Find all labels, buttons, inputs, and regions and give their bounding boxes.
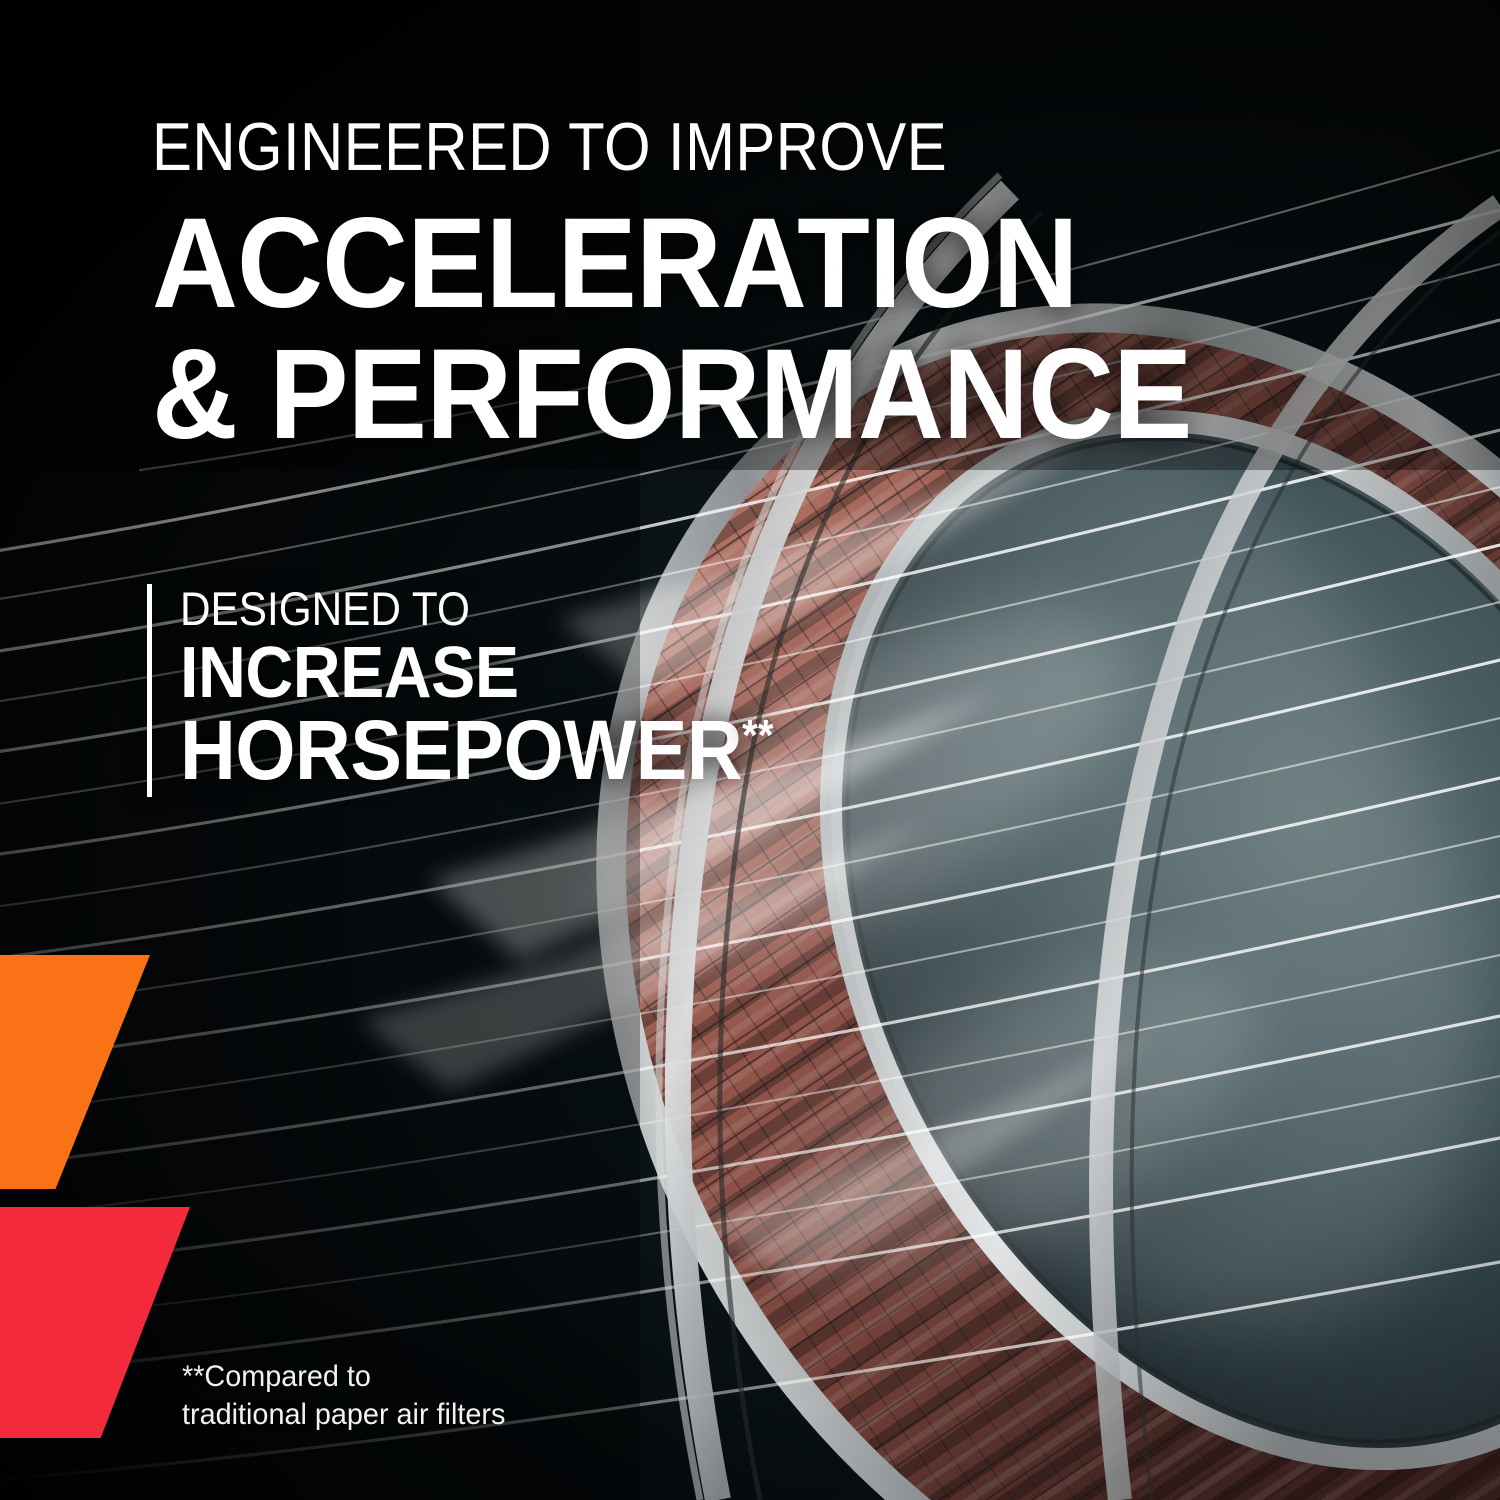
product-banner: ENGINEERED TO IMPROVE ACCELERATION & PER… xyxy=(0,0,1500,1500)
subhead-line-1: INCREASE xyxy=(180,640,519,706)
headline-eyebrow: ENGINEERED TO IMPROVE xyxy=(152,113,947,181)
subhead-footnote-marker: ** xyxy=(742,711,773,760)
subhead-vertical-rule xyxy=(147,584,152,797)
headline-line-1: ACCELERATION xyxy=(152,205,1078,323)
footnote-text: **Compared to traditional paper air filt… xyxy=(182,1358,505,1434)
subhead-line-2: HORSEPOWER** xyxy=(180,712,773,789)
headline-line-2: & PERFORMANCE xyxy=(152,336,1191,454)
subhead-eyebrow: DESIGNED TO xyxy=(180,585,470,632)
subhead-line-2-text: HORSEPOWER xyxy=(180,703,742,797)
